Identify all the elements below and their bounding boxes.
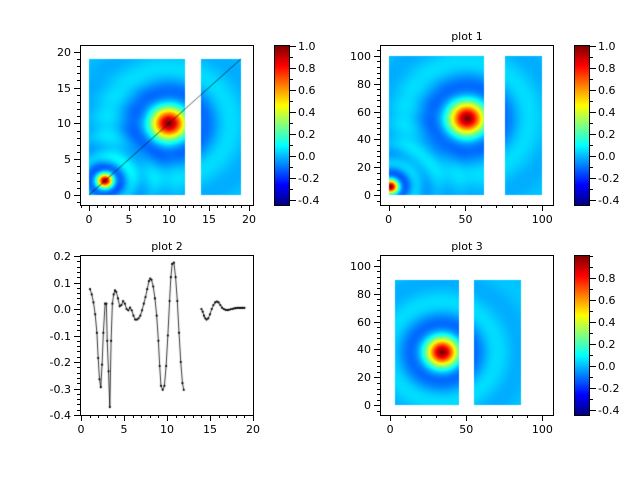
y-tick-label: 0.1 <box>32 278 71 289</box>
x-minor-tick <box>241 205 242 208</box>
colorbar-tick-label: 0.0 <box>598 151 638 162</box>
x-minor-tick <box>193 415 194 418</box>
y-minor-tick <box>377 151 380 152</box>
x-minor-tick <box>141 415 142 418</box>
y-tick-label: 20 <box>32 47 71 58</box>
x-tick-label: 50 <box>448 424 484 435</box>
y-minor-tick <box>377 162 380 163</box>
y-minor-tick <box>77 73 80 74</box>
colorbar-minor-tick <box>290 101 293 102</box>
y-minor-tick <box>77 188 80 189</box>
y-minor-tick <box>377 361 380 362</box>
x-major-tick <box>466 415 467 421</box>
y-minor-tick <box>377 50 380 51</box>
colorbar-minor-tick <box>590 289 593 290</box>
y-minor-tick <box>377 134 380 135</box>
y-tick-label: 0 <box>32 190 71 201</box>
subplot-top-right-title: plot 1 <box>380 30 554 43</box>
colorbar-minor-tick <box>590 101 593 102</box>
x-minor-tick <box>450 205 451 208</box>
colorbar-tick <box>590 366 596 367</box>
y-minor-tick <box>377 277 380 278</box>
colorbar-tick-label: -0.2 <box>598 173 638 184</box>
colorbar-minor-tick <box>590 57 593 58</box>
x-tick-label: 5 <box>111 214 147 225</box>
y-minor-tick <box>377 184 380 185</box>
y-minor-tick <box>77 373 80 374</box>
y-minor-tick <box>377 190 380 191</box>
y-major-tick <box>74 362 80 363</box>
y-tick-label: 0 <box>332 400 371 411</box>
y-minor-tick <box>77 404 80 405</box>
x-major-tick <box>389 205 390 211</box>
y-tick-label: 60 <box>332 107 371 118</box>
x-minor-tick <box>158 415 159 418</box>
y-tick-label: 20 <box>332 162 371 173</box>
colorbar-minor-tick <box>290 145 293 146</box>
colorbar-tick-label: -0.2 <box>598 383 638 394</box>
y-tick-label: 80 <box>332 79 371 90</box>
y-minor-tick <box>77 383 80 384</box>
y-major-tick <box>374 322 380 323</box>
y-minor-tick <box>377 400 380 401</box>
colorbar-tick <box>290 90 296 91</box>
y-minor-tick <box>377 389 380 390</box>
colorbar-minor-tick <box>590 377 593 378</box>
colorbar-minor-tick <box>290 79 293 80</box>
x-tick-label: 0 <box>371 214 407 225</box>
colorbar-minor-tick <box>290 57 293 58</box>
y-major-tick <box>74 88 80 89</box>
x-major-tick <box>210 415 211 421</box>
y-major-tick <box>374 349 380 350</box>
y-minor-tick <box>377 355 380 356</box>
y-minor-tick <box>377 366 380 367</box>
colorbar-tick-label: 0.4 <box>598 317 638 328</box>
x-tick-label: 10 <box>151 214 187 225</box>
colorbar-tick-label: 0.2 <box>598 339 638 350</box>
heatmap-bottom-right <box>381 256 553 415</box>
y-minor-tick <box>377 305 380 306</box>
x-minor-tick <box>184 415 185 418</box>
subplot-top-left: 0510152005101520 -0.4-0.20.00.20.40.60.8… <box>0 0 320 240</box>
y-minor-tick <box>377 372 380 373</box>
x-tick-label: 0 <box>372 424 408 435</box>
x-major-tick <box>81 415 82 421</box>
colorbar-minor-tick <box>590 123 593 124</box>
y-minor-tick <box>377 299 380 300</box>
subplot-bottom-right: plot 3 050100020406080100 -0.4-0.20.00.2… <box>320 240 640 480</box>
colorbar-tick <box>290 200 296 201</box>
y-tick-label: 20 <box>332 372 371 383</box>
x-minor-tick <box>451 415 452 418</box>
y-tick-label: 100 <box>332 51 371 62</box>
x-minor-tick <box>217 205 218 208</box>
y-minor-tick <box>377 394 380 395</box>
y-major-tick <box>74 256 80 257</box>
colorbar-tick-label: 0.4 <box>598 107 638 118</box>
y-tick-label: 5 <box>32 154 71 165</box>
x-major-tick <box>124 415 125 421</box>
y-tick-label: -0.3 <box>32 384 71 395</box>
y-minor-tick <box>377 411 380 412</box>
y-minor-tick <box>377 78 380 79</box>
colorbar-minor-tick <box>590 355 593 356</box>
subplot-bottom-left-title: plot 2 <box>80 240 254 253</box>
colorbar-tick <box>590 46 596 47</box>
x-tick-label: 15 <box>191 214 227 225</box>
x-major-tick <box>253 415 254 421</box>
y-major-tick <box>374 112 380 113</box>
y-tick-label: 0.0 <box>32 304 71 315</box>
axes-bottom-right <box>380 255 554 416</box>
x-minor-tick <box>115 415 116 418</box>
colorbar-tick <box>590 90 596 91</box>
y-minor-tick <box>377 89 380 90</box>
colorbar-tick <box>590 68 596 69</box>
x-minor-tick <box>201 205 202 208</box>
colorbar-tick-label: 1.0 <box>598 41 638 52</box>
y-minor-tick <box>77 152 80 153</box>
y-minor-tick <box>77 102 80 103</box>
y-minor-tick <box>77 394 80 395</box>
x-minor-tick <box>404 205 405 208</box>
y-minor-tick <box>77 173 80 174</box>
colorbar-minor-tick <box>290 167 293 168</box>
x-minor-tick <box>161 205 162 208</box>
y-minor-tick <box>377 316 380 317</box>
subplot-bottom-left: plot 2 05101520-0.4-0.3-0.2-0.10.00.10.2 <box>0 240 320 480</box>
y-minor-tick <box>77 304 80 305</box>
x-minor-tick <box>193 205 194 208</box>
colorbar-tick-label: 0.2 <box>598 129 638 140</box>
colorbar-tick-label: -0.4 <box>598 195 638 206</box>
colorbar-tick <box>590 178 596 179</box>
y-minor-tick <box>377 333 380 334</box>
y-minor-tick <box>77 109 80 110</box>
y-minor-tick <box>77 202 80 203</box>
y-minor-tick <box>77 116 80 117</box>
x-major-tick <box>167 415 168 421</box>
colorbar-tick <box>590 278 596 279</box>
x-major-tick <box>89 205 90 211</box>
y-minor-tick <box>77 367 80 368</box>
x-minor-tick <box>419 205 420 208</box>
colorbar-tick <box>590 410 596 411</box>
x-tick-label: 0 <box>71 214 107 225</box>
x-minor-tick <box>145 205 146 208</box>
colorbar-tick <box>290 68 296 69</box>
y-minor-tick <box>77 166 80 167</box>
y-major-tick <box>74 309 80 310</box>
heatmap-top-left <box>81 46 253 205</box>
y-minor-tick <box>377 95 380 96</box>
subplot-top-right: plot 1 050100020406080100 -0.4-0.20.00.2… <box>320 0 640 240</box>
y-major-tick <box>74 415 80 416</box>
colorbar-tick <box>290 156 296 157</box>
y-major-tick <box>374 195 380 196</box>
y-minor-tick <box>377 117 380 118</box>
x-major-tick <box>129 205 130 211</box>
y-minor-tick <box>77 95 80 96</box>
y-major-tick <box>74 195 80 196</box>
y-minor-tick <box>77 314 80 315</box>
x-minor-tick <box>137 205 138 208</box>
figure-canvas: 0510152005101520 -0.4-0.20.00.20.40.60.8… <box>0 0 640 480</box>
y-minor-tick <box>77 378 80 379</box>
colorbar-top-left <box>274 45 290 206</box>
x-minor-tick <box>527 415 528 418</box>
colorbar-minor-tick <box>590 189 593 190</box>
y-major-tick <box>374 405 380 406</box>
x-minor-tick <box>133 415 134 418</box>
x-minor-tick <box>97 205 98 208</box>
colorbar-bottom-right <box>574 255 590 416</box>
x-minor-tick <box>405 415 406 418</box>
x-minor-tick <box>481 205 482 208</box>
x-minor-tick <box>107 415 108 418</box>
y-tick-label: 40 <box>332 134 371 145</box>
y-tick-label: 40 <box>332 344 371 355</box>
x-minor-tick <box>497 415 498 418</box>
colorbar-gradient-bottom-right <box>575 256 589 415</box>
y-major-tick <box>74 159 80 160</box>
y-tick-label: 10 <box>32 118 71 129</box>
colorbar-tick-label: 0.6 <box>598 85 638 96</box>
y-major-tick <box>374 56 380 57</box>
y-minor-tick <box>377 145 380 146</box>
x-minor-tick <box>244 415 245 418</box>
y-minor-tick <box>77 181 80 182</box>
x-minor-tick <box>153 205 154 208</box>
y-minor-tick <box>77 330 80 331</box>
x-minor-tick <box>512 205 513 208</box>
y-minor-tick <box>377 128 380 129</box>
y-minor-tick <box>77 267 80 268</box>
y-major-tick <box>374 167 380 168</box>
x-minor-tick <box>105 205 106 208</box>
heatmap-top-right <box>381 46 553 205</box>
y-minor-tick <box>77 410 80 411</box>
y-minor-tick <box>377 173 380 174</box>
x-minor-tick <box>150 415 151 418</box>
colorbar-tick <box>590 112 596 113</box>
x-tick-label: 100 <box>524 214 560 225</box>
x-minor-tick <box>225 205 226 208</box>
x-minor-tick <box>90 415 91 418</box>
y-minor-tick <box>77 298 80 299</box>
y-major-tick <box>74 123 80 124</box>
x-minor-tick <box>219 415 220 418</box>
x-minor-tick <box>512 415 513 418</box>
y-tick-label: -0.2 <box>32 357 71 368</box>
y-minor-tick <box>77 357 80 358</box>
colorbar-minor-tick <box>290 123 293 124</box>
colorbar-tick <box>590 388 596 389</box>
colorbar-top-right <box>574 45 590 206</box>
x-tick-label: 0 <box>63 424 99 435</box>
y-major-tick <box>74 389 80 390</box>
y-minor-tick <box>377 283 380 284</box>
x-minor-tick <box>481 415 482 418</box>
x-tick-label: 15 <box>192 424 228 435</box>
colorbar-tick <box>590 200 596 201</box>
y-minor-tick <box>377 383 380 384</box>
lineplot-bottom-left <box>81 256 253 415</box>
y-minor-tick <box>377 310 380 311</box>
x-tick-label: 20 <box>231 214 267 225</box>
x-minor-tick <box>436 415 437 418</box>
colorbar-minor-tick <box>590 167 593 168</box>
x-minor-tick <box>421 415 422 418</box>
colorbar-gradient-top-left <box>275 46 289 205</box>
y-major-tick <box>374 377 380 378</box>
colorbar-minor-tick <box>590 79 593 80</box>
colorbar-minor-tick <box>590 333 593 334</box>
x-minor-tick <box>236 415 237 418</box>
y-minor-tick <box>77 341 80 342</box>
colorbar-tick <box>590 156 596 157</box>
x-minor-tick <box>227 415 228 418</box>
colorbar-tick-label: 0.0 <box>598 361 638 372</box>
x-tick-label: 10 <box>149 424 185 435</box>
axes-bottom-left <box>80 255 254 416</box>
y-minor-tick <box>77 351 80 352</box>
y-minor-tick <box>377 327 380 328</box>
x-major-tick <box>390 415 391 421</box>
y-minor-tick <box>377 271 380 272</box>
y-minor-tick <box>77 131 80 132</box>
x-minor-tick <box>185 205 186 208</box>
y-major-tick <box>374 266 380 267</box>
y-tick-label: 60 <box>332 317 371 328</box>
y-minor-tick <box>77 145 80 146</box>
colorbar-tick <box>590 322 596 323</box>
y-tick-label: -0.4 <box>32 410 71 421</box>
y-minor-tick <box>377 338 380 339</box>
x-tick-label: 100 <box>524 424 560 435</box>
x-major-tick <box>465 205 466 211</box>
colorbar-minor-tick <box>290 189 293 190</box>
x-minor-tick <box>527 205 528 208</box>
y-minor-tick <box>77 138 80 139</box>
y-minor-tick <box>77 261 80 262</box>
x-major-tick <box>249 205 250 211</box>
y-minor-tick <box>377 156 380 157</box>
x-tick-label: 5 <box>106 424 142 435</box>
y-minor-tick <box>377 61 380 62</box>
y-minor-tick <box>377 73 380 74</box>
colorbar-tick-label: 0.6 <box>598 295 638 306</box>
x-minor-tick <box>233 205 234 208</box>
colorbar-minor-tick <box>590 256 593 257</box>
x-minor-tick <box>496 205 497 208</box>
y-tick-label: 15 <box>32 83 71 94</box>
y-minor-tick <box>377 288 380 289</box>
colorbar-tick <box>590 134 596 135</box>
y-minor-tick <box>377 201 380 202</box>
colorbar-tick <box>590 300 596 301</box>
y-minor-tick <box>77 277 80 278</box>
x-minor-tick <box>201 415 202 418</box>
colorbar-tick <box>590 344 596 345</box>
x-minor-tick <box>435 205 436 208</box>
y-tick-label: 80 <box>332 289 371 300</box>
colorbar-minor-tick <box>590 267 593 268</box>
y-major-tick <box>374 294 380 295</box>
x-tick-label: 50 <box>447 214 483 225</box>
colorbar-minor-tick <box>590 399 593 400</box>
y-minor-tick <box>77 399 80 400</box>
x-minor-tick <box>121 205 122 208</box>
y-minor-tick <box>377 67 380 68</box>
y-tick-label: 100 <box>332 261 371 272</box>
colorbar-tick-label: -0.4 <box>598 405 638 416</box>
y-minor-tick <box>377 100 380 101</box>
colorbar-minor-tick <box>590 311 593 312</box>
x-minor-tick <box>98 415 99 418</box>
y-minor-tick <box>77 80 80 81</box>
colorbar-tick <box>290 134 296 135</box>
y-minor-tick <box>377 260 380 261</box>
y-tick-label: -0.1 <box>32 331 71 342</box>
y-minor-tick <box>77 320 80 321</box>
x-major-tick <box>169 205 170 211</box>
y-minor-tick <box>77 288 80 289</box>
y-tick-label: 0.2 <box>32 251 71 262</box>
y-major-tick <box>74 52 80 53</box>
colorbar-tick <box>290 112 296 113</box>
y-minor-tick <box>77 293 80 294</box>
colorbar-tick-label: 0.8 <box>598 273 638 284</box>
x-minor-tick <box>176 415 177 418</box>
colorbar-tick <box>290 46 296 47</box>
x-major-tick <box>542 415 543 421</box>
colorbar-gradient-top-right <box>575 46 589 205</box>
y-major-tick <box>374 84 380 85</box>
colorbar-minor-tick <box>590 145 593 146</box>
y-minor-tick <box>377 106 380 107</box>
y-minor-tick <box>77 272 80 273</box>
x-minor-tick <box>81 205 82 208</box>
x-major-tick <box>209 205 210 211</box>
colorbar-tick-label: 0.8 <box>598 63 638 74</box>
x-minor-tick <box>177 205 178 208</box>
y-minor-tick <box>77 346 80 347</box>
y-minor-tick <box>377 123 380 124</box>
y-minor-tick <box>77 66 80 67</box>
subplot-bottom-right-title: plot 3 <box>380 240 554 253</box>
x-minor-tick <box>113 205 114 208</box>
x-tick-label: 20 <box>235 424 271 435</box>
y-minor-tick <box>377 344 380 345</box>
y-minor-tick <box>77 59 80 60</box>
y-major-tick <box>74 336 80 337</box>
axes-top-left <box>80 45 254 206</box>
y-major-tick <box>74 283 80 284</box>
y-tick-label: 0 <box>332 190 371 201</box>
y-minor-tick <box>77 325 80 326</box>
y-major-tick <box>374 139 380 140</box>
x-major-tick <box>542 205 543 211</box>
colorbar-tick <box>290 178 296 179</box>
axes-top-right <box>380 45 554 206</box>
y-minor-tick <box>377 179 380 180</box>
